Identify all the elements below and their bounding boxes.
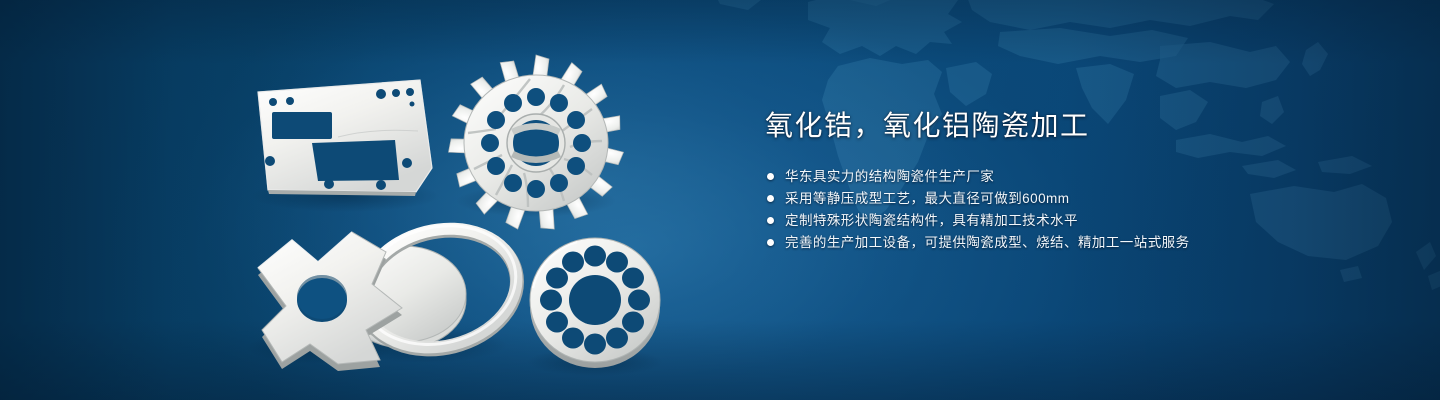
list-item: 华东具实力的结构陶瓷件生产厂家: [765, 169, 1405, 184]
list-item: 定制特殊形状陶瓷结构件，具有精加工技术水平: [765, 213, 1405, 228]
list-item-label: 定制特殊形状陶瓷结构件，具有精加工技术水平: [785, 213, 1078, 228]
list-item: 采用等静压成型工艺，最大直径可做到600mm: [765, 191, 1405, 206]
list-item: 完善的生产加工设备，可提供陶瓷成型、烧结、精加工一站式服务: [765, 235, 1405, 250]
bullet-dot-icon: [767, 173, 774, 180]
feature-list: 华东具实力的结构陶瓷件生产厂家 采用等静压成型工艺，最大直径可做到600mm 定…: [765, 169, 1405, 250]
banner-copy: 氧化锆，氧化铝陶瓷加工 华东具实力的结构陶瓷件生产厂家 采用等静压成型工艺，最大…: [765, 108, 1405, 257]
ceramic-impeller-wheel: [447, 55, 624, 232]
page-title: 氧化锆，氧化铝陶瓷加工: [765, 108, 1405, 143]
ceramic-cross-vane: [246, 232, 402, 371]
bullet-dot-icon: [767, 239, 774, 246]
ceramic-products-photo: [0, 0, 720, 400]
list-item-label: 采用等静压成型工艺，最大直径可做到600mm: [785, 191, 1069, 206]
list-item-label: 完善的生产加工设备，可提供陶瓷成型、烧结、精加工一站式服务: [785, 235, 1190, 250]
bullet-dot-icon: [767, 217, 774, 224]
ceramic-perforated-disc: [527, 238, 663, 376]
list-item-label: 华东具实力的结构陶瓷件生产厂家: [785, 169, 994, 184]
bullet-dot-icon: [767, 195, 774, 202]
ceramic-machined-plate: [250, 80, 440, 212]
ceramic-processing-hero-banner: 氧化锆，氧化铝陶瓷加工 华东具实力的结构陶瓷件生产厂家 采用等静压成型工艺，最大…: [0, 0, 1440, 400]
